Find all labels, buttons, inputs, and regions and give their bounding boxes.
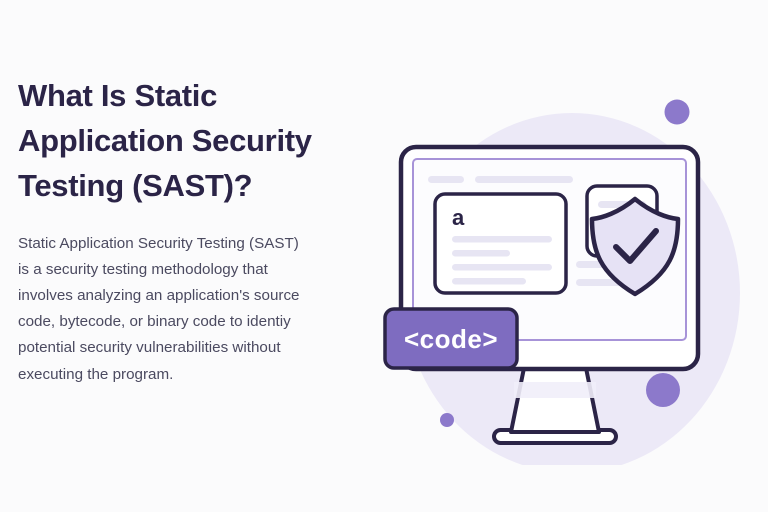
code-card-line-2 bbox=[452, 250, 510, 257]
code-badge-label: <code> bbox=[404, 324, 498, 354]
decor-dot-bottom-left bbox=[440, 413, 454, 427]
monitor-stand bbox=[511, 368, 599, 432]
code-card-line-4 bbox=[452, 278, 526, 285]
text-column: What Is Static Application Security Test… bbox=[18, 74, 390, 388]
screen-header-bar-short bbox=[428, 176, 464, 183]
code-card-glyph: a bbox=[452, 205, 465, 230]
code-card-line-3 bbox=[452, 264, 552, 271]
code-card-line-1 bbox=[452, 236, 552, 243]
page-description: Static Application Security Testing (SAS… bbox=[18, 231, 390, 388]
page-title: What Is Static Application Security Test… bbox=[18, 74, 390, 209]
decor-dot-bottom-right bbox=[646, 373, 680, 407]
decor-dot-top-right bbox=[665, 100, 690, 125]
screen-header-bar-long bbox=[475, 176, 573, 183]
sast-monitor-illustration: a <code> bbox=[380, 45, 768, 465]
monitor-stand-shadow bbox=[514, 382, 596, 398]
